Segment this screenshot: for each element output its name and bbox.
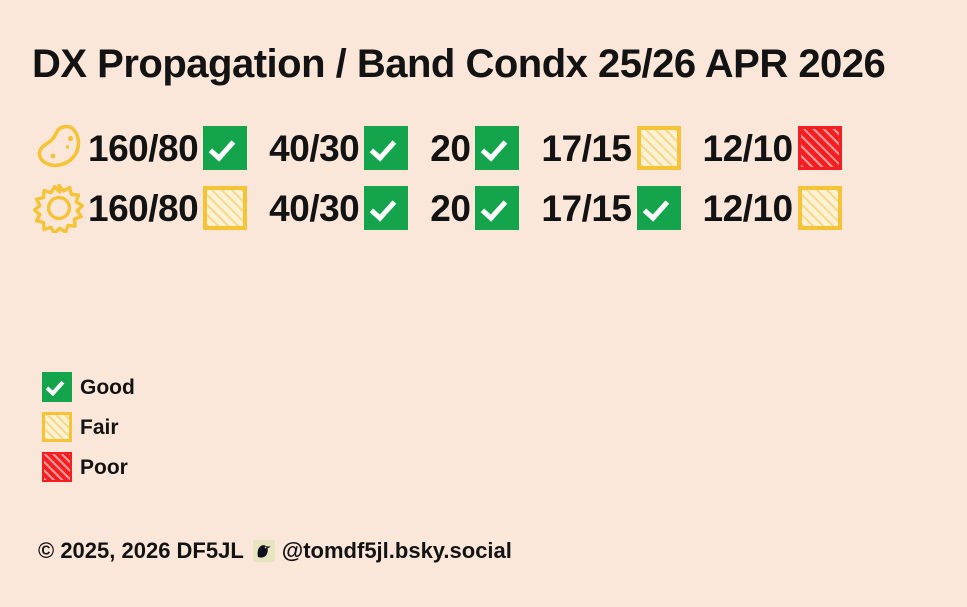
legend-label: Good [80, 377, 135, 398]
band-label: 160/80 [88, 190, 198, 227]
status-box-good [475, 186, 519, 230]
status-box-good [475, 126, 519, 170]
legend-item-good: Good [42, 367, 135, 407]
bluesky-handle: @tomdf5jl.bsky.social [282, 540, 512, 562]
propagation-report: DX Propagation / Band Condx 25/26 APR 20… [0, 0, 967, 607]
band-cell: 40/30 [269, 178, 408, 238]
sun-icon [30, 182, 88, 234]
band-cell: 12/10 [703, 178, 842, 238]
status-box-fair [203, 186, 247, 230]
legend-label: Poor [80, 457, 128, 478]
status-box-good [364, 186, 408, 230]
page-title: DX Propagation / Band Condx 25/26 APR 20… [32, 44, 885, 84]
band-cell: 20 [430, 178, 519, 238]
bluesky-bird-icon [253, 540, 275, 562]
band-label: 12/10 [703, 130, 793, 167]
copyright-text: © 2025, 2026 DF5JL [38, 540, 244, 562]
status-box-fair [798, 186, 842, 230]
legend-label: Fair [80, 417, 119, 438]
band-label: 40/30 [269, 130, 359, 167]
status-box-poor [798, 126, 842, 170]
band-label: 17/15 [541, 190, 631, 227]
status-box-good [637, 186, 681, 230]
band-label: 17/15 [541, 130, 631, 167]
band-row-day: 160/80 40/30 20 17/15 12/10 [30, 178, 842, 238]
band-cell: 160/80 [88, 178, 247, 238]
footer: © 2025, 2026 DF5JL @tomdf5jl.bsky.social [38, 540, 512, 562]
band-condition-table: 160/80 40/30 20 17/15 12/10 [30, 118, 842, 238]
legend-swatch-poor [42, 452, 72, 482]
legend-item-fair: Fair [42, 407, 135, 447]
status-box-good [203, 126, 247, 170]
band-label: 160/80 [88, 130, 198, 167]
status-box-fair [637, 126, 681, 170]
band-cell: 17/15 [541, 178, 680, 238]
band-cell: 160/80 [88, 118, 247, 178]
band-cell: 17/15 [541, 118, 680, 178]
band-row-night: 160/80 40/30 20 17/15 12/10 [30, 118, 842, 178]
moon-icon [30, 122, 88, 174]
legend-swatch-fair [42, 412, 72, 442]
legend-swatch-good [42, 372, 72, 402]
band-cell: 40/30 [269, 118, 408, 178]
band-label: 12/10 [703, 190, 793, 227]
legend: Good Fair Poor [42, 367, 135, 487]
legend-item-poor: Poor [42, 447, 135, 487]
band-label: 20 [430, 190, 470, 227]
band-cell: 12/10 [703, 118, 842, 178]
band-cell: 20 [430, 118, 519, 178]
band-label: 20 [430, 130, 470, 167]
status-box-good [364, 126, 408, 170]
band-label: 40/30 [269, 190, 359, 227]
